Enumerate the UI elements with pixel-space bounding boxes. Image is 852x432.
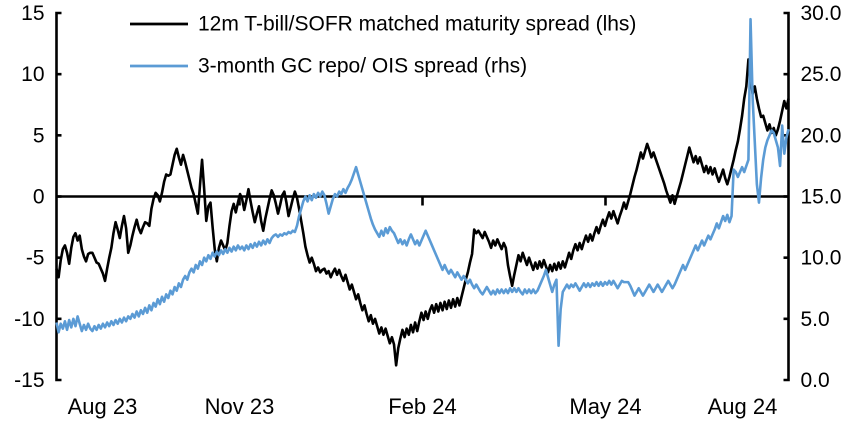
legend-label-2: 3-month GC repo/ OIS spread (rhs) [198,55,527,78]
x-axis-tick-label: Aug 23 [68,394,138,419]
left-axis-tick-label: -15 [14,369,44,392]
right-axis-tick-label: 15.0 [801,186,842,209]
left-axis-tick-label: -10 [14,308,44,331]
left-axis-tick-label: 0 [33,186,45,209]
right-axis-tick-label: 30.0 [801,2,842,25]
x-axis-tick-label: May 24 [569,394,641,419]
left-axis-tick-label: 10 [21,63,44,86]
right-axis-tick-label: 10.0 [801,247,842,270]
chart-container: 151050-5-10-1530.025.020.015.010.05.00.0… [0,0,852,432]
right-axis-tick-label: 20.0 [801,124,842,147]
left-axis-tick-label: 5 [33,124,45,147]
right-axis-tick-label: 25.0 [801,63,842,86]
dual-axis-line-chart: 151050-5-10-1530.025.020.015.010.05.00.0… [0,0,852,432]
left-axis-tick-label: 15 [21,2,44,25]
right-axis-tick-label: 5.0 [801,308,830,331]
x-axis-tick-label: Nov 23 [205,394,275,419]
legend-label-1: 12m T-bill/SOFR matched maturity spread … [198,13,636,36]
x-axis-tick-label: Feb 24 [388,394,457,419]
right-axis-tick-label: 0.0 [801,369,830,392]
x-axis-tick-label: Aug 24 [708,394,778,419]
legend: 12m T-bill/SOFR matched maturity spread … [130,13,636,78]
series-line-1 [57,59,789,365]
left-axis-tick-label: -5 [26,247,45,270]
